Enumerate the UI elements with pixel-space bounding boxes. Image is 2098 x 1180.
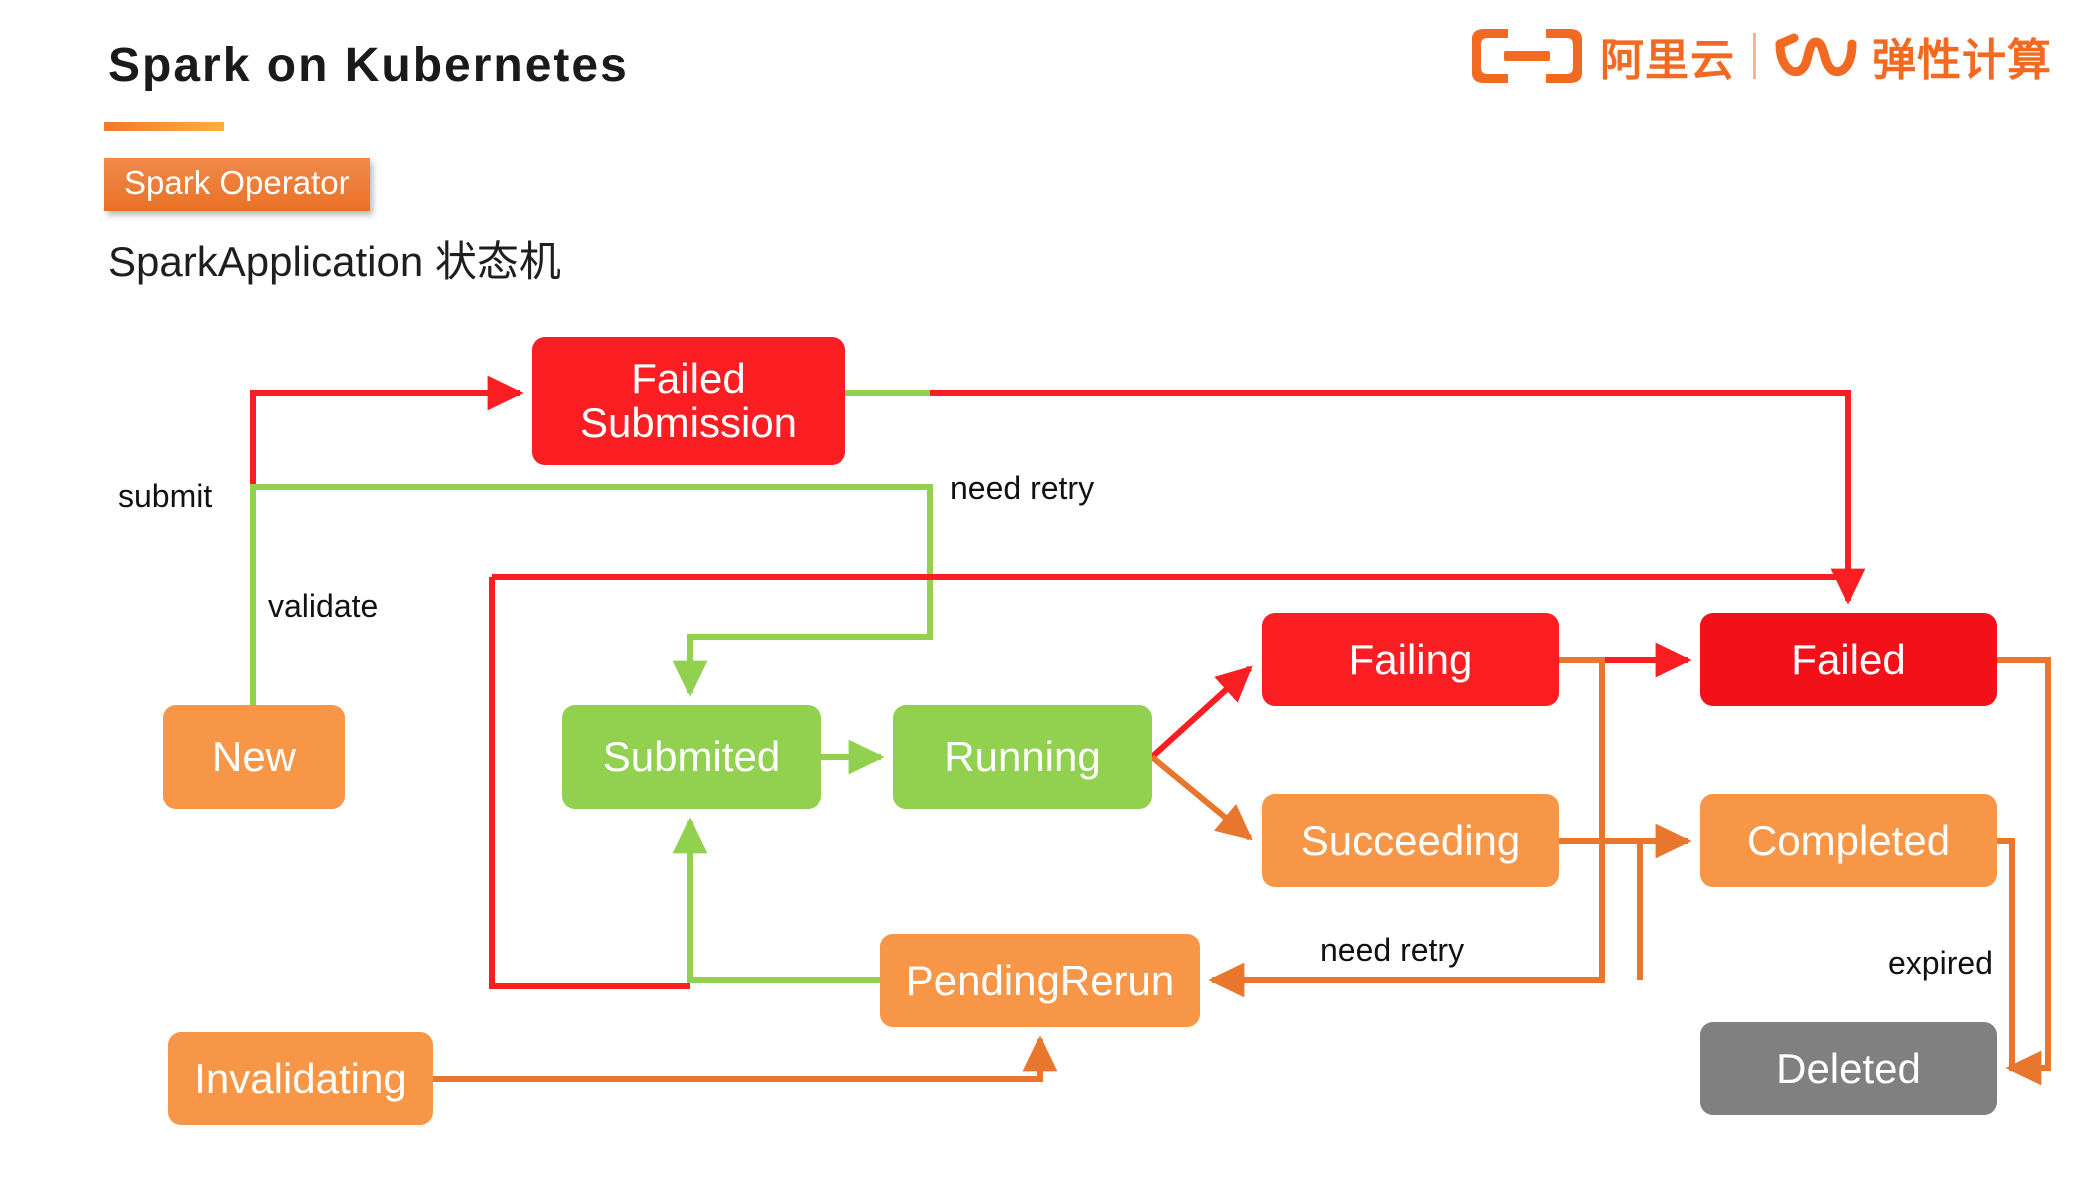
edge-label-submit: submit	[118, 478, 212, 515]
edge-label-validate: validate	[268, 588, 378, 625]
edge-label-need-retry-top: need retry	[950, 470, 1094, 507]
state-node-succeeding[interactable]: Succeeding	[1262, 794, 1559, 887]
edge-completed-to-deleted	[1997, 841, 2012, 1068]
state-node-pending-rerun[interactable]: PendingRerun	[880, 934, 1200, 1027]
state-node-new[interactable]: New	[163, 705, 345, 809]
edge-running-to-succeeding	[1152, 757, 1250, 838]
edge-label-need-retry-bottom: need retry	[1320, 932, 1464, 969]
edge-failed-to-deleted	[1997, 660, 2048, 1068]
state-machine-diagram: Failed Submission New Submited Running F…	[0, 0, 2098, 1180]
state-node-failing[interactable]: Failing	[1262, 613, 1559, 706]
state-node-completed[interactable]: Completed	[1700, 794, 1997, 887]
edge-new-to-failedsubmission	[253, 393, 520, 705]
edge-pendingrerun-to-submited	[690, 821, 880, 980]
edge-running-to-failing	[1152, 668, 1250, 757]
state-node-submited[interactable]: Submited	[562, 705, 821, 809]
state-node-deleted[interactable]: Deleted	[1700, 1022, 1997, 1115]
slide-canvas: Spark on Kubernetes Spark Operator Spark…	[0, 0, 2098, 1180]
state-node-invalidating[interactable]: Invalidating	[168, 1032, 433, 1125]
state-node-running[interactable]: Running	[893, 705, 1152, 809]
state-node-failed-submission[interactable]: Failed Submission	[532, 337, 845, 465]
edge-label-expired: expired	[1888, 945, 1993, 982]
edge-invalidating-to-pendingrerun	[433, 1039, 1040, 1079]
state-node-failed[interactable]: Failed	[1700, 613, 1997, 706]
